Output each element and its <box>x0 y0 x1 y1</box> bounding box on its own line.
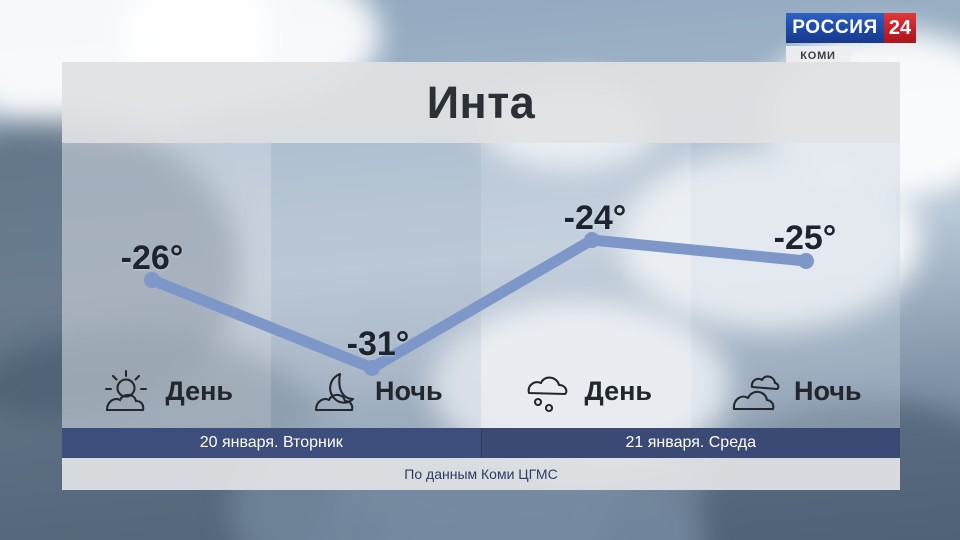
forecast-slot: День <box>62 360 272 422</box>
data-source-footer: По данным Коми ЦГМС <box>62 458 900 490</box>
temperature-label: -26° <box>121 239 184 278</box>
panel-header: Инта <box>62 62 900 143</box>
temperature-line <box>152 240 806 368</box>
two-clouds-icon <box>729 368 783 414</box>
date-cell: 21 января. Среда <box>482 428 901 458</box>
date-cell: 20 января. Вторник <box>62 428 482 458</box>
sun-behind-cloud-icon <box>101 368 155 414</box>
channel-logo-number: 24 <box>884 13 916 43</box>
page-title: Инта <box>427 80 536 125</box>
cloud-with-snow-icon <box>520 368 574 414</box>
forecast-slot: День <box>481 360 691 422</box>
temperature-label: -31° <box>347 325 410 364</box>
forecast-chart: -26° -31° -24° -25° День <box>62 143 900 428</box>
forecast-slot: Ночь <box>272 360 482 422</box>
period-label: Ночь <box>375 376 443 407</box>
temperature-label: -25° <box>774 219 837 258</box>
temperature-label: -24° <box>564 199 627 238</box>
forecast-slot: Ночь <box>691 360 901 422</box>
date-bar: 20 января. Вторник 21 января. Среда <box>62 428 900 458</box>
channel-logo: РОССИЯ 24 <box>786 13 916 43</box>
moon-behind-cloud-icon <box>310 368 364 414</box>
period-label: День <box>166 376 234 407</box>
period-label: День <box>585 376 653 407</box>
channel-logo-text: РОССИЯ <box>786 13 884 43</box>
period-label: Ночь <box>794 376 862 407</box>
period-row: День Ночь <box>62 360 900 422</box>
forecast-panel: Инта -26° -31° -24° -25° <box>62 62 900 490</box>
